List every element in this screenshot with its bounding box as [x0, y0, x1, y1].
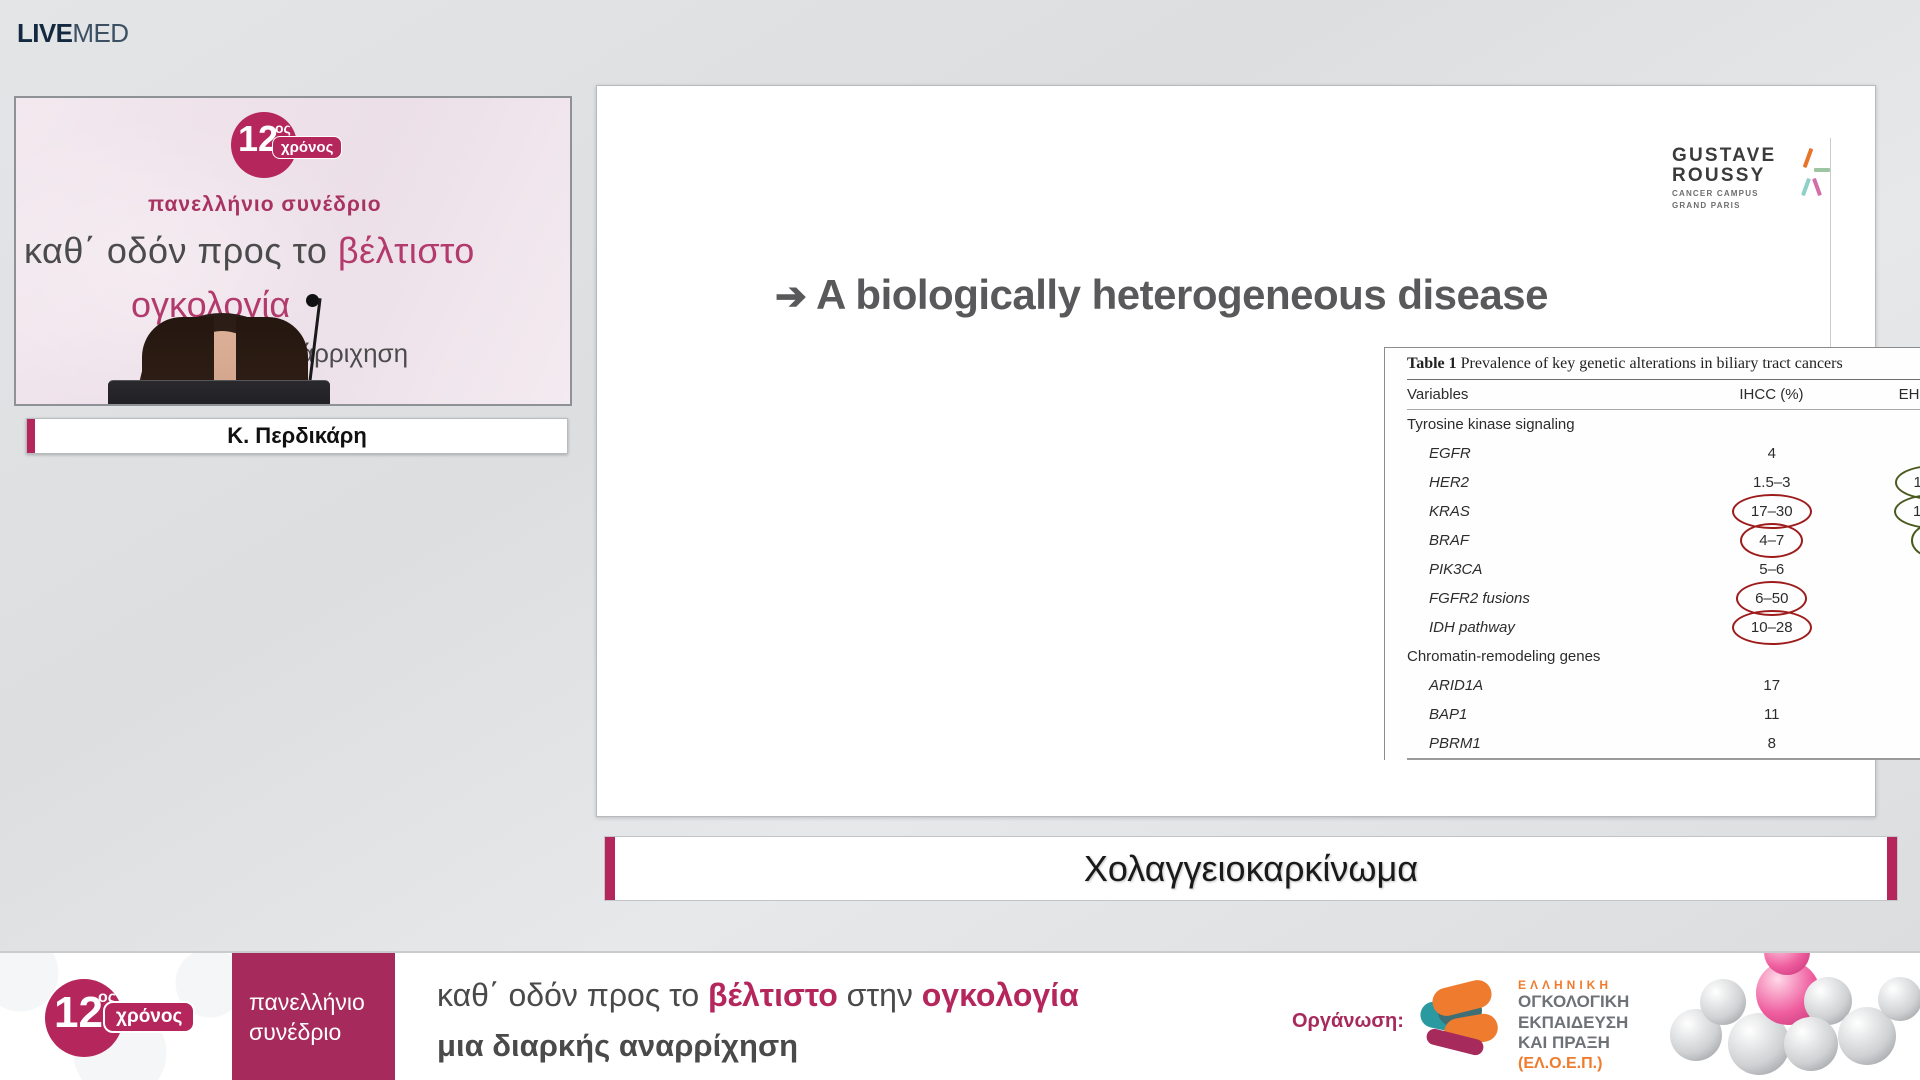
table-section-label: Chromatin-remodeling genes: [1407, 648, 1697, 665]
livemed-logo[interactable]: LIVEMED: [17, 18, 128, 49]
highlight-circle-red: 17–30: [1738, 499, 1806, 524]
highlight-circle-green: 12–40: [1900, 499, 1920, 524]
gustave-roussy-logo: GUSTAVE ROUSSY CANCER CAMPUS GRAND PARIS: [1672, 146, 1822, 211]
table-cell: 17–30: [1691, 499, 1853, 524]
table-caption-text: Prevalence of key genetic alterations in…: [1461, 355, 1843, 372]
footer-tagline-line1: καθ΄ οδόν προς το βέλτιστο στην ογκολογί…: [437, 977, 1079, 1014]
table-cell: 8: [1691, 735, 1853, 752]
footer-tagline: καθ΄ οδόν προς το βέλτιστο στην ογκολογί…: [437, 977, 1079, 1064]
table-section-label: Tyrosine kinase signaling: [1407, 416, 1697, 433]
footer-badge-number: 12: [54, 991, 103, 1035]
table-cell: 3: [1853, 445, 1920, 462]
organizer-label: Οργάνωση:: [1292, 1010, 1404, 1033]
table-row-variable: FGFR2 fusions: [1407, 590, 1691, 607]
badge-suffix: ος: [275, 120, 291, 136]
footer-chronos-label: χρόνος: [103, 1001, 195, 1033]
table-caption: Table 1 Prevalence of key genetic altera…: [1385, 348, 1920, 379]
col-header-ehcc: EHCC (%): [1853, 386, 1920, 403]
speaker-name-bar: Κ. Περδικάρη: [26, 418, 568, 454]
eloep-logo-text: ΕΛΛΗΝΙΚΗ ΟΓΚΟΛΟΓΙΚΗ ΕΚΠΑΙΔΕΥΣΗ ΚΑΙ ΠΡΑΞΗ…: [1518, 978, 1629, 1073]
backdrop-tagline-1: καθ΄ οδόν προς το βέλτιστο: [24, 230, 475, 272]
footer-tagline-line2: μια διαρκής αναρρίχηση: [437, 1028, 1079, 1064]
table-cell: 5: [1853, 735, 1920, 752]
table-row: PIK3CA5–67–98–14: [1385, 555, 1920, 584]
table-row-variable: EGFR: [1407, 445, 1691, 462]
table-row: KRAS17–3012–400–13: [1385, 497, 1920, 526]
eloep-logo-icon: [1414, 972, 1510, 1068]
eloep-line1: ΟΓΚΟΛΟΓΙΚΗ: [1518, 992, 1629, 1012]
table-cell: 8: [1853, 706, 1920, 723]
slide-topic-text: Χολαγγειοκαρκίνωμα: [1084, 848, 1418, 890]
app-root: LIVEMED πανελλήνιο συνέδριο καθ΄ οδόν πρ…: [0, 0, 1920, 1080]
table-row: FGFR2 fusions6–500–50–3: [1385, 584, 1920, 613]
top-header: LIVEMED: [0, 0, 1920, 58]
table-row: EGFR434–18: [1385, 439, 1920, 468]
table-row-variable: PBRM1: [1407, 735, 1691, 752]
speaker-name: Κ. Περδικάρη: [227, 423, 367, 449]
table-row-variable: IDH pathway: [1407, 619, 1691, 636]
speaker-video-panel[interactable]: πανελλήνιο συνέδριο καθ΄ οδόν προς το βέ…: [14, 96, 572, 406]
col-header-ihcc: IHCC (%): [1690, 386, 1852, 403]
table-cell: 4: [1691, 445, 1853, 462]
table-row: IDH pathway10–280–70: [1385, 613, 1920, 642]
band-accent-right: [1887, 837, 1897, 900]
table-cell: 6–50: [1691, 586, 1853, 611]
table-row: BRAF4–731–6: [1385, 526, 1920, 555]
table-cell: 10–28: [1691, 615, 1853, 640]
table-cell: 12: [1853, 677, 1920, 694]
table-row-variable: PIK3CA: [1407, 561, 1691, 578]
table-cell: 1.5–3: [1691, 474, 1853, 491]
table-row: BAP11180: [1385, 700, 1920, 729]
table-header-row: Variables IHCC (%) EHCC (%) GBC (%): [1385, 380, 1920, 409]
slide-topic-band: Χολαγγειοκαρκίνωμα: [604, 836, 1898, 901]
footer-banner: 12 ος χρόνος πανελλήνιο συνέδριο καθ΄ οδ…: [0, 951, 1920, 1080]
eloep-line0: ΕΛΛΗΝΙΚΗ: [1518, 978, 1629, 992]
backdrop-conference-line: πανελλήνιο συνέδριο: [148, 193, 382, 217]
presentation-slide[interactable]: ➔ A biologically heterogeneous disease G…: [596, 85, 1876, 817]
table-cell: 3: [1853, 528, 1920, 553]
table-cell: 11: [1691, 706, 1853, 723]
slide-title-text: A biologically heterogeneous disease: [816, 271, 1548, 318]
footer-box-line2: συνέδριο: [249, 1018, 395, 1048]
podium: [108, 380, 330, 406]
table-row-variable: BRAF: [1407, 532, 1691, 549]
gr-mark-icons: [1784, 146, 1828, 208]
eloep-line3: ΚΑΙ ΠΡΑΞΗ: [1518, 1033, 1629, 1053]
footer-conference-box: πανελλήνιο συνέδριο: [232, 953, 395, 1080]
table-section-row: Tyrosine kinase signaling: [1385, 410, 1920, 439]
table-row-variable: ARID1A: [1407, 677, 1691, 694]
table-cell: 12–40: [1853, 499, 1920, 524]
highlight-circle-red: 6–50: [1742, 586, 1801, 611]
slide-title: ➔ A biologically heterogeneous disease: [775, 271, 1548, 319]
name-accent-bar: [27, 419, 35, 453]
table-caption-label: Table 1: [1407, 355, 1457, 372]
band-accent-left: [605, 837, 615, 900]
table-row: ARID1A171213: [1385, 671, 1920, 700]
table-cell: 11–18: [1853, 470, 1920, 495]
eloep-line2: ΕΚΠΑΙΔΕΥΣΗ: [1518, 1013, 1629, 1033]
spheres-decoration: [1652, 951, 1920, 1080]
table-row: PBRM1857: [1385, 729, 1920, 758]
table-cell: 0–7: [1853, 619, 1920, 636]
table-cell: 4–7: [1691, 528, 1853, 553]
eloep-line4: (ΕΛ.Ο.Ε.Π.): [1518, 1054, 1629, 1073]
logo-med: MED: [72, 18, 128, 48]
logo-live: LIVE: [17, 18, 72, 48]
genetic-alterations-table: Table 1 Prevalence of key genetic altera…: [1385, 348, 1920, 760]
backdrop-chronos-label: χρόνος: [272, 136, 342, 159]
arrow-icon: ➔: [775, 276, 806, 318]
footer-box-line1: πανελλήνιο: [249, 988, 395, 1018]
table-body: Tyrosine kinase signalingEGFR434–18HER21…: [1385, 410, 1920, 758]
highlight-circle-red: 4–7: [1746, 528, 1797, 553]
table-section-row: Chromatin-remodeling genes: [1385, 642, 1920, 671]
video-frame: πανελλήνιο συνέδριο καθ΄ οδόν προς το βέ…: [16, 98, 570, 404]
table-cell: 17: [1691, 677, 1853, 694]
highlight-circle-red: 10–28: [1738, 615, 1806, 640]
highlight-circle-green: 11–18: [1901, 470, 1920, 495]
table-cell: 0–5: [1853, 590, 1920, 607]
table-row-variable: BAP1: [1407, 706, 1691, 723]
table-cell: 5–6: [1691, 561, 1853, 578]
table-row: HER21.5–311–1810–16: [1385, 468, 1920, 497]
col-header-variables: Variables: [1407, 386, 1690, 403]
table-row-variable: HER2: [1407, 474, 1691, 491]
table-cell: 7–9: [1853, 561, 1920, 578]
table-row-variable: KRAS: [1407, 503, 1691, 520]
